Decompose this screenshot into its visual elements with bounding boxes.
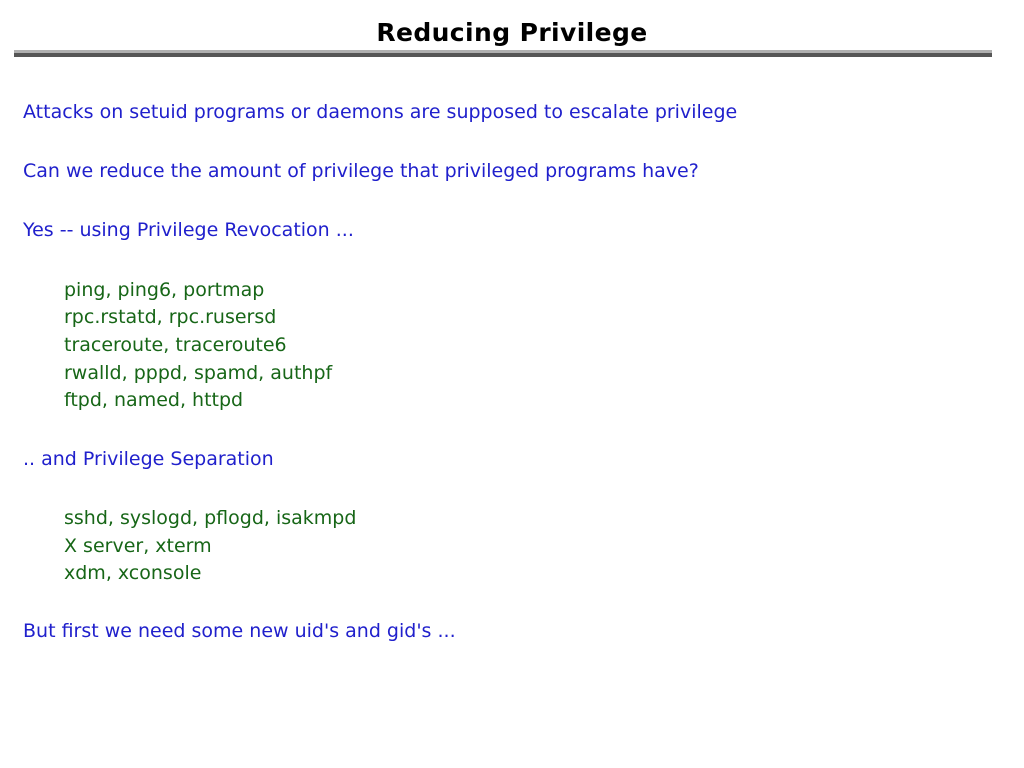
bullet-line-2: Can we reduce the amount of privilege th…	[23, 162, 699, 181]
bullet-line-5: But first we need some new uid's and gid…	[23, 622, 456, 641]
sublist-item-3: traceroute, traceroute6	[64, 336, 287, 355]
sublist-item-7: X server, xterm	[64, 537, 212, 556]
slide-root: Reducing Privilege Attacks on setuid pro…	[0, 0, 1024, 768]
sublist-item-1: ping, ping6, portmap	[64, 281, 264, 300]
slide-body: Attacks on setuid programs or daemons ar…	[0, 0, 1024, 768]
bullet-line-4: .. and Privilege Separation	[23, 450, 274, 469]
sublist-item-4: rwalld, pppd, spamd, authpf	[64, 364, 332, 383]
sublist-item-8: xdm, xconsole	[64, 564, 201, 583]
sublist-item-6: sshd, syslogd, pflogd, isakmpd	[64, 509, 356, 528]
bullet-line-1: Attacks on setuid programs or daemons ar…	[23, 103, 737, 122]
sublist-item-5: ftpd, named, httpd	[64, 391, 243, 410]
bullet-line-3: Yes -- using Privilege Revocation ...	[23, 221, 354, 240]
sublist-item-2: rpc.rstatd, rpc.rusersd	[64, 308, 276, 327]
